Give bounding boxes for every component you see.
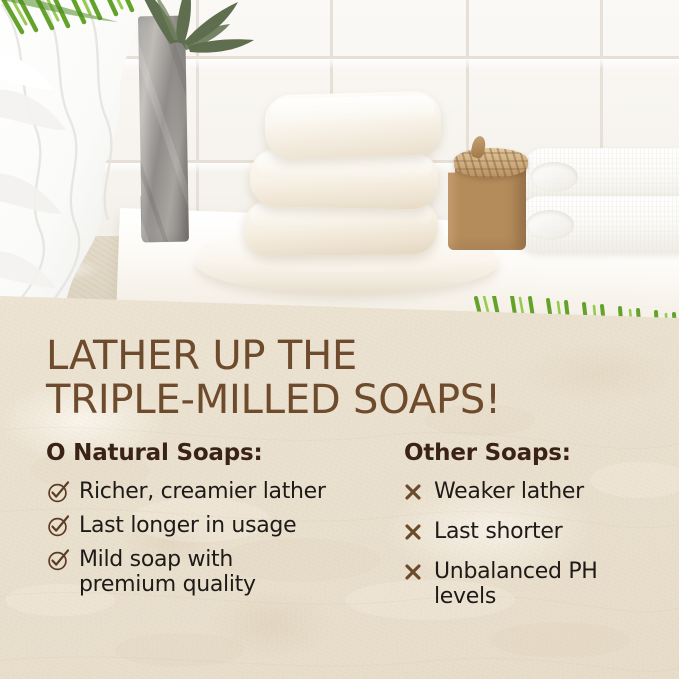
page-title: LATHER UP THE TRIPLE-MILLED SOAPS! bbox=[46, 334, 646, 422]
list-item-label: Richer, creamier lather bbox=[79, 479, 326, 504]
palm-frond-icon bbox=[0, 0, 242, 78]
list-item: Last longer in usage bbox=[46, 513, 404, 538]
list-item-label: Unbalanced PH levels bbox=[434, 559, 634, 609]
x-mark-icon bbox=[404, 561, 422, 585]
basket-lid bbox=[454, 148, 528, 178]
list-item-label: Last shorter bbox=[434, 519, 562, 544]
folded-towel-bottom bbox=[516, 196, 679, 252]
product-photo bbox=[0, 0, 679, 340]
check-circle-icon bbox=[46, 514, 70, 538]
benefit-list: Richer, creamier lather Last longer in u… bbox=[46, 479, 404, 597]
infographic-card: LATHER UP THE TRIPLE-MILLED SOAPS! O Nat… bbox=[0, 0, 679, 679]
column-heading-natural: O Natural Soaps: bbox=[46, 440, 404, 466]
comparison-table: O Natural Soaps: Richer, creamier lather bbox=[46, 440, 662, 623]
x-mark-icon bbox=[404, 481, 422, 505]
soap-bar-top bbox=[264, 91, 442, 160]
column-natural-soaps: O Natural Soaps: Richer, creamier lather bbox=[46, 440, 404, 623]
list-item: Richer, creamier lather bbox=[46, 479, 404, 504]
headline-line-1: LATHER UP THE bbox=[46, 333, 357, 379]
list-item: Unbalanced PH levels bbox=[404, 559, 662, 609]
list-item-label: Last longer in usage bbox=[79, 513, 296, 538]
column-heading-other: Other Soaps: bbox=[404, 440, 662, 466]
soap-bar-middle bbox=[249, 148, 438, 210]
list-item-label: Weaker lather bbox=[434, 479, 584, 504]
list-item: Weaker lather bbox=[404, 479, 662, 505]
list-item: Mild soap with premium quality bbox=[46, 547, 404, 597]
column-other-soaps: Other Soaps: Weaker lather Last shorter bbox=[404, 440, 662, 623]
headline-line-2: TRIPLE-MILLED SOAPS! bbox=[46, 378, 646, 422]
check-circle-icon bbox=[46, 480, 70, 504]
list-item: Last shorter bbox=[404, 519, 662, 545]
list-item-label: Mild soap with premium quality bbox=[79, 547, 319, 597]
content-section: LATHER UP THE TRIPLE-MILLED SOAPS! O Nat… bbox=[0, 318, 679, 679]
woven-basket bbox=[448, 136, 526, 250]
x-mark-icon bbox=[404, 521, 422, 545]
drawback-list: Weaker lather Last shorter Unbalanced PH… bbox=[404, 479, 662, 609]
check-circle-icon bbox=[46, 548, 70, 572]
